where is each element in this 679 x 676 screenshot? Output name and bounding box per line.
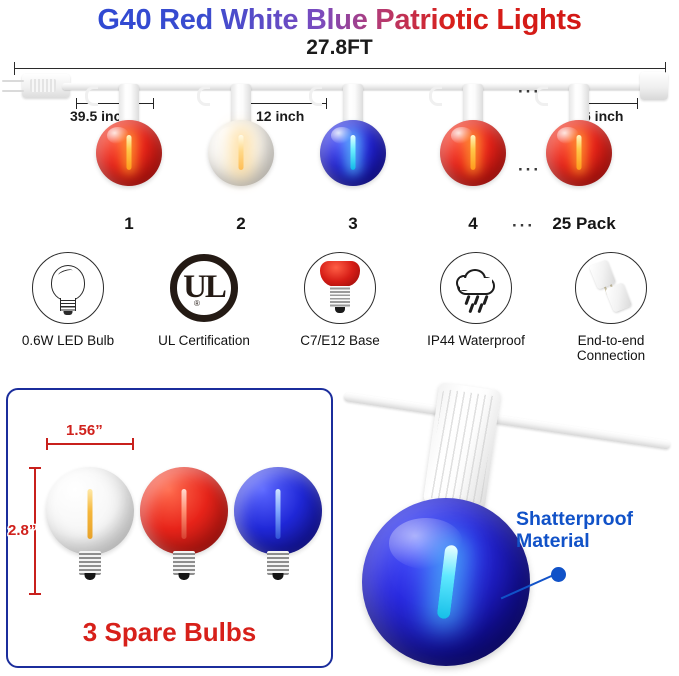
spare-bulbs-title: 3 Spare Bulbs [8,617,331,648]
total-length-label: 27.8FT [0,36,679,60]
feature-led-bulb: 0.6W LED Bulb [0,252,136,348]
width-dimension-line [46,443,134,445]
lamp-4 [440,84,506,209]
end-connector-icon [640,72,668,100]
total-length-dimension-line [14,68,666,69]
globe-bulb-red-icon [440,120,506,186]
bulb-number-2: 2 [211,214,271,234]
plug-prong-icon [2,80,24,82]
width-measure-label: 1.56” [66,422,103,439]
lamp-3 [320,84,386,209]
led-bulb-outline-icon [32,252,104,324]
ul-mark-icon: UL ® [168,252,240,324]
socket-icon [343,84,363,124]
height-measure-label: 2.8” [8,522,36,539]
feature-end-to-end: End-to-end Connection [543,252,679,363]
socket-icon [119,84,139,124]
lamp-socket-icon [423,382,501,511]
bulb-number-1: 1 [99,214,159,234]
feature-row: 0.6W LED Bulb UL ® UL Certification C7/E… [0,252,679,374]
socket-hook-icon [85,86,98,106]
globe-bulb-red-icon [546,120,612,186]
feature-label-base: C7/E12 Base [272,333,408,348]
lamp-25 [546,84,612,209]
feature-label-waterproof: IP44 Waterproof [408,333,544,348]
socket-hook-icon [429,86,442,106]
lamp-2 [208,84,274,209]
socket-hook-icon [309,86,322,106]
product-infographic: G40 Red White Blue Patriotic Lights 27.8… [0,0,679,676]
registered-mark: ® [194,299,200,308]
spare-bulb-blue-icon [234,467,322,597]
wire-ellipsis: ··· [518,82,541,102]
globe-bulb-blue-icon [320,120,386,186]
number-ellipsis: ··· [512,216,535,236]
spare-bulb-red-icon [140,467,228,597]
callout-label-line1: Shatterproof [516,509,633,531]
e12-screw-base-icon [304,252,376,324]
feature-waterproof: IP44 Waterproof [408,252,544,348]
socket-icon [569,84,589,124]
page-title: G40 Red White Blue Patriotic Lights [0,4,679,37]
bulb-number-25-pack: 25 Pack [544,214,624,234]
connector-plug-icon [575,252,647,324]
globe-bulb-white-icon [208,120,274,186]
socket-icon [463,84,483,124]
feature-label-led-bulb: 0.6W LED Bulb [0,333,136,348]
feature-label-ul: UL Certification [136,333,272,348]
feature-ul-certification: UL ® UL Certification [136,252,272,348]
bulb-ellipsis: ··· [518,160,541,180]
feature-e12-base: C7/E12 Base [272,252,408,348]
bulb-number-4: 4 [443,214,503,234]
ul-letters: UL [183,269,225,306]
blue-globe-bulb-icon [362,498,530,666]
hero-wire [343,392,671,450]
callout-dot [551,567,566,582]
feature-label-end-to-end-line1: End-to-end [543,333,679,348]
feature-label-end-to-end-line2: Connection [543,348,679,363]
globe-bulb-red-icon [96,120,162,186]
bulb-number-3: 3 [323,214,383,234]
spare-bulbs-panel: 1.56” 2.8” 3 Spare Bulbs [6,388,333,668]
socket-hook-icon [197,86,210,106]
lamp-1 [96,84,162,209]
spare-bulb-clear-icon [46,467,134,597]
rain-cloud-icon [440,252,512,324]
socket-icon [231,84,251,124]
plug-prong-icon [2,90,24,92]
callout-label-line2: Material [516,531,633,553]
shatterproof-hero: Shatterproof Material [336,380,679,676]
